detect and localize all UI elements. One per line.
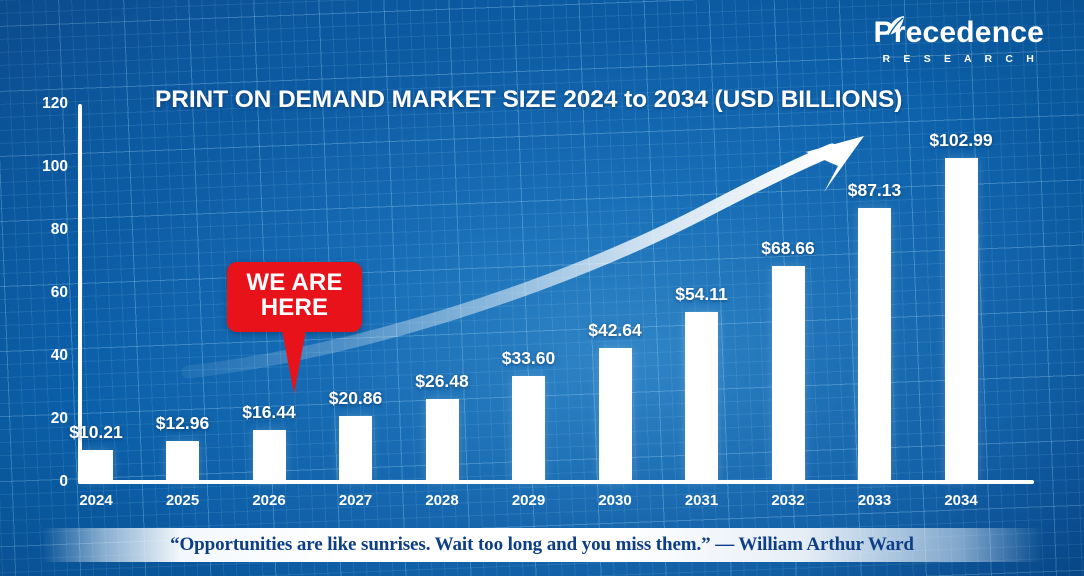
bar-2029 [512,376,545,482]
infographic-canvas: Precedence R E S E A R C H PRINT ON DEMA… [0,0,1084,576]
bar-2031 [685,312,718,482]
x-axis-tick-2028: 2028 [425,492,458,509]
y-axis-tick-0: 0 [12,473,68,491]
bar-2027 [339,416,372,482]
bar-value-label-2028: $26.48 [415,371,469,392]
x-axis-tick-2025: 2025 [166,492,199,509]
callout-pointer [282,330,306,394]
bar-2033 [858,208,891,482]
x-axis-tick-2027: 2027 [339,492,372,509]
bar-2034 [945,158,978,482]
x-axis-tick-2033: 2033 [858,492,891,509]
bar-value-label-2030: $42.64 [588,320,642,341]
bar-value-label-2032: $68.66 [761,238,815,259]
callout-line-2: HERE [233,296,356,321]
bar-2030 [599,348,632,482]
x-axis-tick-2029: 2029 [512,492,545,509]
y-axis-tick-60: 60 [12,284,68,302]
bar-2032 [772,266,805,482]
bar-2028 [426,399,459,482]
x-axis-tick-2034: 2034 [944,492,977,509]
x-axis-tick-2032: 2032 [771,492,804,509]
we-are-here-callout: WE ARE HERE [227,262,362,332]
y-axis-tick-80: 80 [12,221,68,239]
bar-value-label-2029: $33.60 [502,348,556,369]
bar-2025 [166,441,199,482]
bar-value-label-2025: $12.96 [156,413,210,434]
quote-banner: “Opportunities are like sunrises. Wait t… [42,528,1042,562]
y-axis-tick-100: 100 [12,158,68,176]
y-axis-tick-120: 120 [12,95,68,113]
x-axis-tick-2031: 2031 [685,492,718,509]
bar-value-label-2033: $87.13 [848,180,902,201]
x-axis-tick-2030: 2030 [598,492,631,509]
x-axis-tick-2024: 2024 [79,492,112,509]
chart-plot-area: 020406080100120 $10.21$12.96$16.44$20.86… [0,0,1084,576]
callout-box: WE ARE HERE [227,262,362,332]
callout-line-1: WE ARE [233,271,356,296]
bar-value-label-2027: $20.86 [329,388,383,409]
bar-value-label-2034: $102.99 [929,130,992,151]
quote-text: “Opportunities are like sunrises. Wait t… [170,534,914,556]
bar-value-label-2031: $54.11 [675,284,728,305]
y-axis-tick-40: 40 [12,347,68,365]
bar-2026 [253,430,286,482]
bar-value-label-2026: $16.44 [242,402,296,423]
y-axis-tick-20: 20 [12,410,68,428]
bar-value-label-2024: $10.21 [69,422,123,443]
x-axis-tick-2026: 2026 [252,492,285,509]
bar-2024 [80,450,113,482]
